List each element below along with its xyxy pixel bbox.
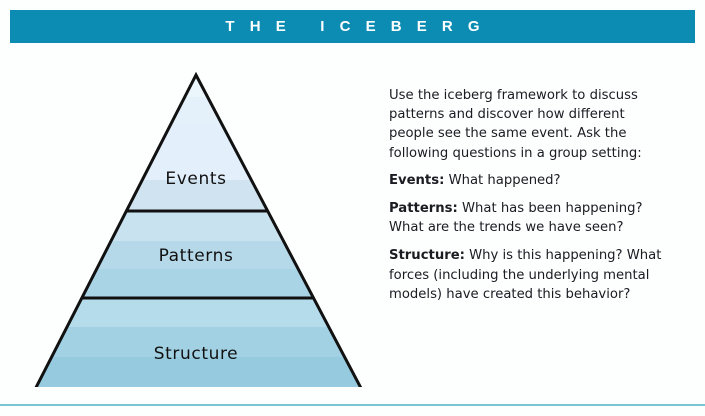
question-patterns: Patterns: What has been happening? What … xyxy=(389,199,669,237)
intro-paragraph: Use the iceberg framework to discuss pat… xyxy=(389,86,669,163)
question-events-text: What happened? xyxy=(444,173,560,188)
band-events-2 xyxy=(22,97,378,124)
iceberg-pyramid-diagram: Events Patterns Structure xyxy=(22,71,378,387)
page-root: T H E I C E B E R G xyxy=(0,0,705,416)
footer-rule xyxy=(0,404,705,406)
question-structure: Structure: Why is this happening? What f… xyxy=(389,246,669,304)
band-patterns-3 xyxy=(22,269,378,298)
question-structure-term: Structure: xyxy=(389,248,465,263)
explanation-panel: Use the iceberg framework to discuss pat… xyxy=(389,86,669,313)
pyramid-bands xyxy=(22,71,378,387)
pyramid-label-structure: Structure xyxy=(154,344,238,364)
pyramid-svg: Events Patterns Structure xyxy=(22,71,378,387)
header-banner: T H E I C E B E R G xyxy=(10,10,695,43)
band-patterns-1 xyxy=(22,211,378,241)
pyramid-label-events: Events xyxy=(165,169,226,189)
page-title: T H E I C E B E R G xyxy=(220,18,485,35)
pyramid-label-patterns: Patterns xyxy=(159,246,234,266)
content-area: Events Patterns Structure Use the iceber… xyxy=(0,43,705,405)
question-events-term: Events: xyxy=(389,173,444,188)
question-patterns-term: Patterns: xyxy=(389,201,458,216)
question-events: Events: What happened? xyxy=(389,171,669,190)
